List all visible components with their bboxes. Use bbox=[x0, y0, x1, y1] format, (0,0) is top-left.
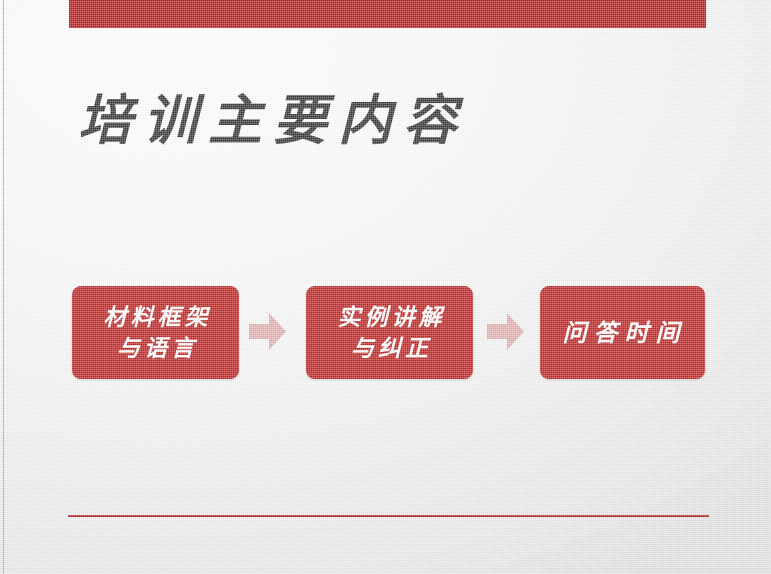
page-title: 培训主要内容 bbox=[78, 84, 698, 156]
flow-box-label-line: 实例讲解 bbox=[334, 302, 446, 333]
slide-left-edge-rule bbox=[3, 0, 4, 574]
slide-canvas: 培训主要内容 材料框架 与语言 实例讲解 与纠正 问答时间 bbox=[0, 0, 771, 574]
header-accent-bar bbox=[69, 0, 706, 28]
flow-box-label-line: 问答时间 bbox=[559, 317, 687, 348]
flow-box-qa-time[interactable]: 问答时间 bbox=[540, 286, 705, 379]
arrow-right-icon bbox=[249, 312, 286, 351]
footer-divider bbox=[68, 515, 709, 517]
flow-box-label-line: 材料框架 bbox=[100, 302, 212, 333]
arrow-right-icon bbox=[487, 312, 524, 351]
flow-box-material-framework-and-language[interactable]: 材料框架 与语言 bbox=[72, 286, 239, 379]
flow-box-label-line: 与纠正 bbox=[347, 333, 432, 364]
flow-box-label-line: 与语言 bbox=[113, 333, 198, 364]
flow-box-case-explanation-and-correction[interactable]: 实例讲解 与纠正 bbox=[306, 286, 473, 379]
